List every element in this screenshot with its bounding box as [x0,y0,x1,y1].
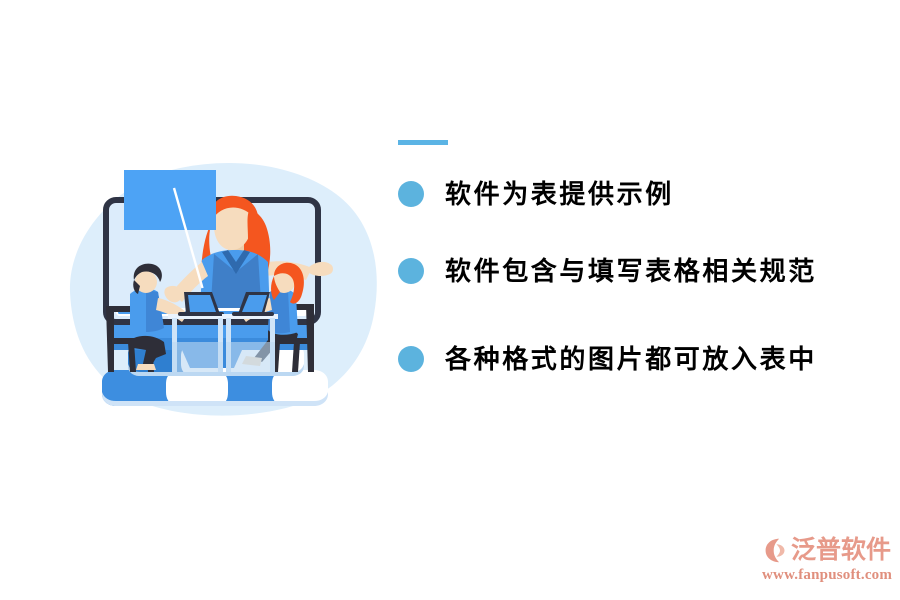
feature-list: 软件为表提供示例 软件包含与填写表格相关规范 各种格式的图片都可放入表中 [398,140,868,372]
slide-canvas: 软件为表提供示例 软件包含与填写表格相关规范 各种格式的图片都可放入表中 泛普软… [0,0,900,600]
watermark-brand-row: 泛普软件 [762,534,892,566]
presentation-board [124,170,216,230]
feature-label: 各种格式的图片都可放入表中 [445,346,817,372]
bullet-dot-icon [398,258,424,284]
watermark-url-text: www.fanpusoft.com [762,567,892,584]
online-classroom-illustration [62,142,382,422]
feature-label: 软件包含与填写表格相关规范 [445,258,817,284]
bullet-dot-icon [398,346,424,372]
bullet-dot-icon [398,181,424,207]
feature-label: 软件为表提供示例 [445,181,674,207]
accent-bar [398,140,448,145]
feature-item-2: 软件包含与填写表格相关规范 [398,258,868,284]
watermark: 泛普软件 www.fanpusoft.com [762,534,892,586]
feature-item-1: 软件为表提供示例 [398,181,868,207]
feature-item-3: 各种格式的图片都可放入表中 [398,346,868,372]
watermark-brand-text: 泛普软件 [791,538,891,563]
fanpu-logo-icon [762,537,789,564]
